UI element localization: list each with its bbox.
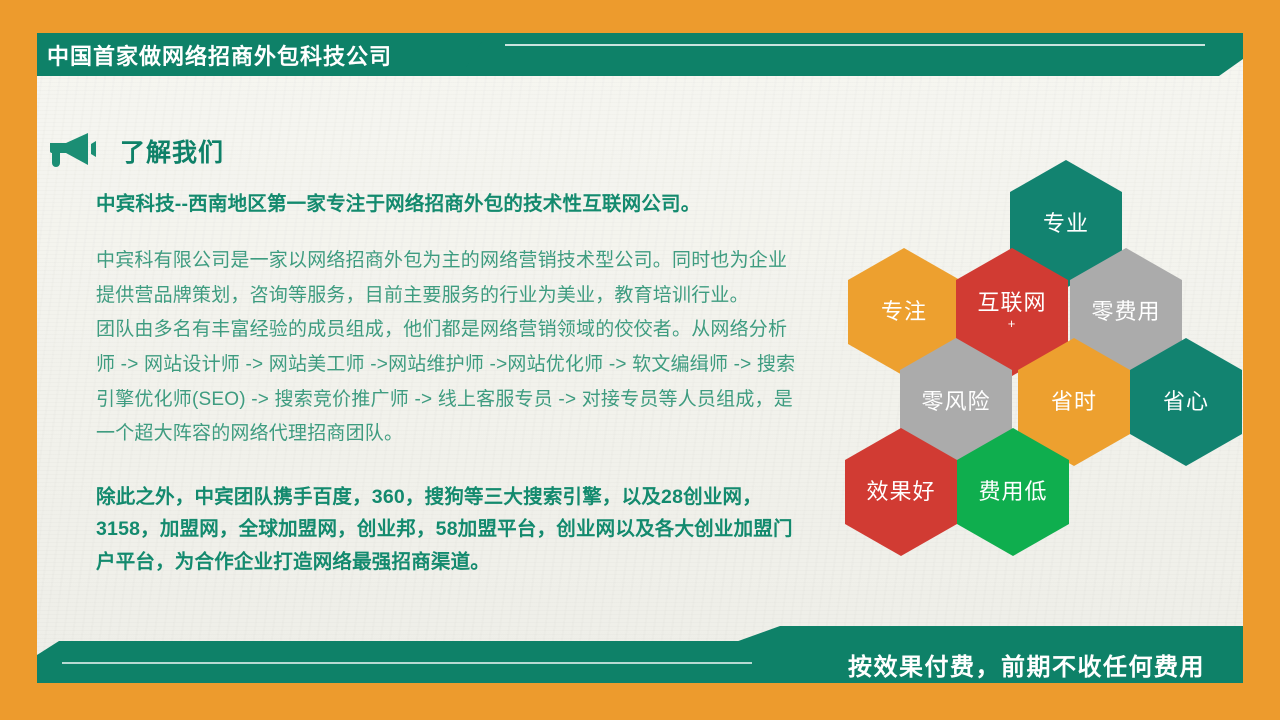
body-headline: 中宾科技--西南地区第一家专注于网络招商外包的技术性互联网公司。: [96, 190, 796, 218]
section-title-label: 了解我们: [120, 133, 224, 169]
header-rule-line: [505, 44, 1205, 46]
body-text-block: 中宾科技--西南地区第一家专注于网络招商外包的技术性互联网公司。 中宾科有限公司…: [96, 190, 796, 579]
hexagon-label: 专业: [1043, 212, 1089, 237]
hexagon-label: 零费用: [1091, 300, 1160, 325]
hexagon-label: 零风险: [921, 390, 990, 415]
hexagon-label: 费用低: [978, 480, 1047, 505]
hexagon-label: 效果好: [866, 480, 935, 505]
slide-canvas: 中国首家做网络招商外包科技公司 了解我们 中宾科技--西南地区第一家专注于网络招…: [0, 0, 1280, 720]
body-paragraph-intro: 中宾科有限公司是一家以网络招商外包为主的网络营销技术型公司。同时也为企业提供营品…: [96, 244, 796, 313]
body-paragraph-closing: 除此之外，中宾团队携手百度，360，搜狗等三大搜索引擎，以及28创业网，3158…: [96, 481, 796, 579]
footer-rule-line: [62, 662, 752, 664]
section-header: 了解我们: [48, 131, 224, 171]
hexagon-label: 专注: [881, 300, 927, 325]
hexagon-label: 互联网: [977, 291, 1046, 316]
megaphone-icon: [48, 131, 98, 171]
hexagon-cluster: 专业专注互联网+零费用零风险省时省心效果好费用低: [840, 160, 1250, 540]
footer-tagline: 按效果付费，前期不收任何费用: [848, 647, 1205, 682]
body-paragraph-team: 团队由多名有丰富经验的成员组成，他们都是网络营销领域的佼佼者。从网络分析师 ->…: [96, 313, 796, 451]
hexagon-label: 省时: [1051, 390, 1097, 415]
page-title: 中国首家做网络招商外包科技公司: [47, 39, 392, 71]
hexagon-label: 省心: [1163, 390, 1209, 415]
hexagon-sublabel: +: [1008, 316, 1017, 333]
